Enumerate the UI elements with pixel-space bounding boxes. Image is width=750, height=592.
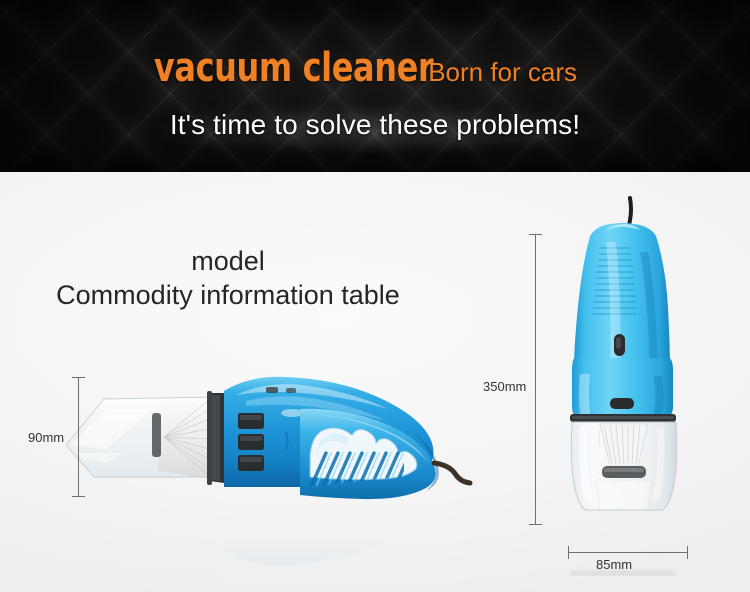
banner-subtitle: It's time to solve these problems! bbox=[0, 109, 750, 141]
banner-tagline: Born for cars bbox=[428, 59, 577, 85]
dimension-label-350mm: 350mm bbox=[483, 379, 526, 394]
hero-banner: vacuum cleaner Born for cars It's time t… bbox=[0, 0, 750, 172]
horizontal-vacuum-reflection bbox=[60, 517, 480, 587]
dimension-label-90mm: 90mm bbox=[28, 430, 64, 445]
power-cord bbox=[434, 463, 470, 483]
content-area: model Commodity information table bbox=[0, 172, 750, 592]
product-banner-page: vacuum cleaner Born for cars It's time t… bbox=[0, 0, 750, 592]
caption-block: model Commodity information table bbox=[28, 246, 428, 312]
dimension-label-85mm: 85mm bbox=[596, 557, 632, 572]
vent-slots bbox=[238, 413, 264, 471]
caption-model: model bbox=[28, 246, 428, 278]
canister-inner-chamber bbox=[596, 480, 652, 510]
nozzle-clip bbox=[152, 413, 161, 457]
dimension-line-90mm bbox=[78, 377, 79, 497]
release-latch bbox=[610, 398, 634, 409]
caption-commodity-table: Commodity information table bbox=[28, 280, 428, 312]
headline-row: vacuum cleaner Born for cars bbox=[0, 48, 750, 88]
horizontal-vacuum-image bbox=[60, 357, 480, 517]
dimension-line-350mm bbox=[535, 234, 536, 525]
banner-title: vacuum cleaner bbox=[154, 48, 433, 88]
vertical-vacuum-image bbox=[552, 192, 712, 532]
pleated-filter bbox=[158, 397, 210, 479]
dimension-line-85mm bbox=[568, 552, 688, 553]
